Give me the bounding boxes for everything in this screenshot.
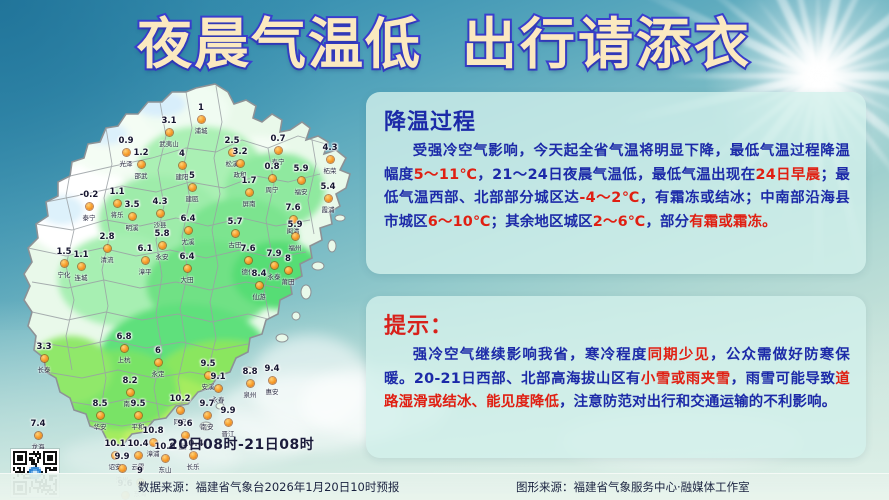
cooling-process-heading: 降温过程 [384,104,850,136]
station-dot-icon [189,184,196,191]
station-name: 柘荣 [324,165,337,175]
station-dot-icon [292,233,299,240]
station-dot-icon [179,162,186,169]
station-dot-icon [159,242,166,249]
station-dot-icon [256,282,263,289]
station-name: 明溪 [126,222,139,232]
highlighted-text: 24日早晨 [756,167,821,183]
station-temperature: 5.7 [227,217,242,227]
station-dot-icon [245,257,252,264]
station-dot-icon [237,160,244,167]
station-dot-icon [127,389,134,396]
station-temperature: 3.3 [36,342,51,352]
station-temperature: 5.9 [287,220,302,230]
station-dot-icon [155,359,162,366]
station-name: 永安 [156,251,169,261]
station-temperature: 5.9 [293,164,308,174]
station-name: 尤溪 [182,236,195,246]
station-dot-icon [119,465,126,472]
advisory-heading: 提示： [384,308,850,340]
fujian-temperature-map: 1浦城3.1武夷山0.9光泽1.2邵武4建阳2.5松溪3.2政和0.7寿宁4.3… [10,70,360,450]
cooling-process-panel: 降温过程 受强冷空气影响，今天起全省气温将明显下降，最低气温过程降温幅度5～11… [366,92,866,274]
station-name: 泉州 [244,389,257,399]
station-temperature: 5.8 [154,229,169,239]
station-dot-icon [61,260,68,267]
station-temperature: 2.8 [99,232,114,242]
station-name: 宁化 [58,269,71,279]
station-temperature: 1.1 [109,187,124,197]
station-name: 连城 [75,272,88,282]
station-temperature: 0.7 [270,134,285,144]
map-date-label: 20日08时-21日08时 [168,434,314,454]
station-marker-layer: 1浦城3.1武夷山0.9光泽1.2邵武4建阳2.5松溪3.2政和0.7寿宁4.3… [10,70,360,450]
station-name: 永定 [152,368,165,378]
station-temperature: 10.8 [143,426,164,436]
station-temperature: 10.1 [105,439,126,449]
station-temperature: 8.4 [251,269,266,279]
station-temperature: 1.5 [56,247,71,257]
station-name: 霞浦 [322,204,335,214]
highlighted-text: 2～6℃ [593,214,646,230]
station-temperature: 4 [179,149,185,159]
data-source-text: 数据来源：福建省气象台2026年1月20日10时预报 [138,479,399,495]
infographic-root: 夜晨气温低 出行请添衣 [0,0,889,500]
body-text: ，雨雪可能导致 [731,371,836,387]
station-temperature: 4.3 [322,143,337,153]
station-dot-icon [86,203,93,210]
station-temperature: 9.6 [177,419,192,429]
station-dot-icon [114,200,121,207]
highlighted-text: 同期少见 [648,347,711,363]
station-temperature: 6.4 [180,214,195,224]
station-dot-icon [123,149,130,156]
station-temperature: 8.2 [122,376,137,386]
station-temperature: 10.4 [128,439,149,449]
station-name: 建阳 [176,171,189,181]
footer-bar: 数据来源：福建省气象台2026年1月20日10时预报 图形来源：福建省气象服务中… [0,473,889,500]
station-temperature: 1.7 [241,176,256,186]
station-dot-icon [162,455,169,462]
station-name: 将乐 [111,209,124,219]
station-name: 泰宁 [83,212,96,222]
station-dot-icon [325,195,332,202]
station-temperature: 2.5 [224,136,239,146]
station-name: 华安 [94,421,107,431]
station-dot-icon [232,230,239,237]
station-name: 莆田 [282,276,295,286]
body-text: ；其余地区城区 [491,214,593,230]
station-dot-icon [104,245,111,252]
station-temperature: 3.2 [232,147,247,157]
station-temperature: 9.9 [220,406,235,416]
station-name: 屏南 [243,198,256,208]
highlighted-text: -4～2℃ [579,190,640,206]
station-dot-icon [198,116,205,123]
station-temperature: 9.5 [200,359,215,369]
advisory-body: 强冷空气继续影响我省，寒冷程度同期少见，公众需做好防寒保暖。20-21日西部、北… [384,344,850,415]
station-name: 长乐 [187,461,200,471]
station-dot-icon [138,161,145,168]
station-dot-icon [215,385,222,392]
station-temperature: 9.5 [130,399,145,409]
station-temperature: 1 [198,103,204,113]
station-temperature: 1.2 [133,148,148,158]
station-name: 安溪 [202,381,215,391]
station-dot-icon [184,265,191,272]
station-temperature: 7.6 [240,244,255,254]
station-name: 邵武 [135,170,148,180]
station-dot-icon [135,452,142,459]
station-temperature: 10.2 [170,394,191,404]
cooling-process-body: 受强冷空气影响，今天起全省气温将明显下降，最低气温过程降温幅度5～11℃，21～… [384,140,850,234]
station-temperature: 3.5 [124,200,139,210]
station-temperature: 8.5 [92,399,107,409]
body-text: ，21～24日夜晨气温低，最低气温出现在 [477,167,755,183]
highlighted-text: 小雪或雨夹雪 [641,371,731,387]
station-temperature: 6.8 [116,332,131,342]
station-name: 长泰 [38,364,51,374]
station-temperature: 8 [285,254,291,264]
station-dot-icon [177,407,184,414]
station-dot-icon [204,412,211,419]
station-temperature: -0.2 [80,190,99,200]
station-name: 福安 [295,186,308,196]
station-name: 沙县 [154,219,167,229]
highlighted-text: 5～11℃ [414,167,478,183]
station-dot-icon [285,267,292,274]
station-name: 福州 [289,242,302,252]
station-dot-icon [142,257,149,264]
station-temperature: 0.9 [118,136,133,146]
station-name: 周宁 [266,184,279,194]
advisory-panel: 提示： 强冷空气继续影响我省，寒冷程度同期少见，公众需做好防寒保暖。20-21日… [366,296,866,458]
station-name: 大田 [181,274,194,284]
station-temperature: 7.6 [285,203,300,213]
station-temperature: 5.4 [320,182,335,192]
station-temperature: 8.8 [242,367,257,377]
station-name: 浦城 [195,125,208,135]
station-temperature: 7.9 [266,249,281,259]
body-text: 强冷空气继续影响我省，寒冷程度 [413,347,648,363]
station-dot-icon [327,156,334,163]
station-name: 清流 [101,254,114,264]
station-temperature: 9.4 [264,364,279,374]
station-dot-icon [298,177,305,184]
station-dot-icon [269,377,276,384]
station-dot-icon [135,412,142,419]
station-dot-icon [275,147,282,154]
station-dot-icon [35,432,42,439]
station-dot-icon [157,210,164,217]
station-temperature: 9.1 [210,372,225,382]
highlighted-text: 6～10℃ [428,214,491,230]
station-temperature: 6.1 [137,244,152,254]
body-text: ，部分 [645,214,689,230]
highlighted-text: 有霜或霜冻。 [689,214,777,230]
station-dot-icon [97,412,104,419]
station-dot-icon [271,262,278,269]
station-name: 武夷山 [159,138,179,148]
station-temperature: 3.1 [161,116,176,126]
station-dot-icon [185,227,192,234]
station-dot-icon [129,213,136,220]
station-temperature: 6 [155,346,161,356]
station-name: 南安 [201,421,214,431]
station-name: 仙游 [253,291,266,301]
station-name: 漳平 [139,266,152,276]
station-dot-icon [246,189,253,196]
station-temperature: 9.7 [199,399,214,409]
station-temperature: 4.3 [152,197,167,207]
station-dot-icon [247,380,254,387]
station-name: 惠安 [266,386,279,396]
station-name: 光泽 [120,158,133,168]
station-dot-icon [166,129,173,136]
station-dot-icon [225,419,232,426]
station-temperature: 1.1 [73,250,88,260]
station-temperature: 0.8 [264,162,279,172]
station-name: 上杭 [118,354,131,364]
station-dot-icon [121,345,128,352]
graphic-source-text: 图形来源：福建省气象服务中心·融媒体工作室 [516,479,750,495]
station-name: 永泰 [268,271,281,281]
station-dot-icon [269,175,276,182]
body-text: ，注意防范对出行和交通运输的不利影响。 [559,394,836,410]
station-dot-icon [41,355,48,362]
station-temperature: 7.4 [30,419,45,429]
station-name: 建瓯 [186,193,199,203]
station-temperature: 5 [189,171,195,181]
station-temperature: 6.4 [179,252,194,262]
station-dot-icon [78,263,85,270]
station-temperature: 9.9 [114,452,129,462]
